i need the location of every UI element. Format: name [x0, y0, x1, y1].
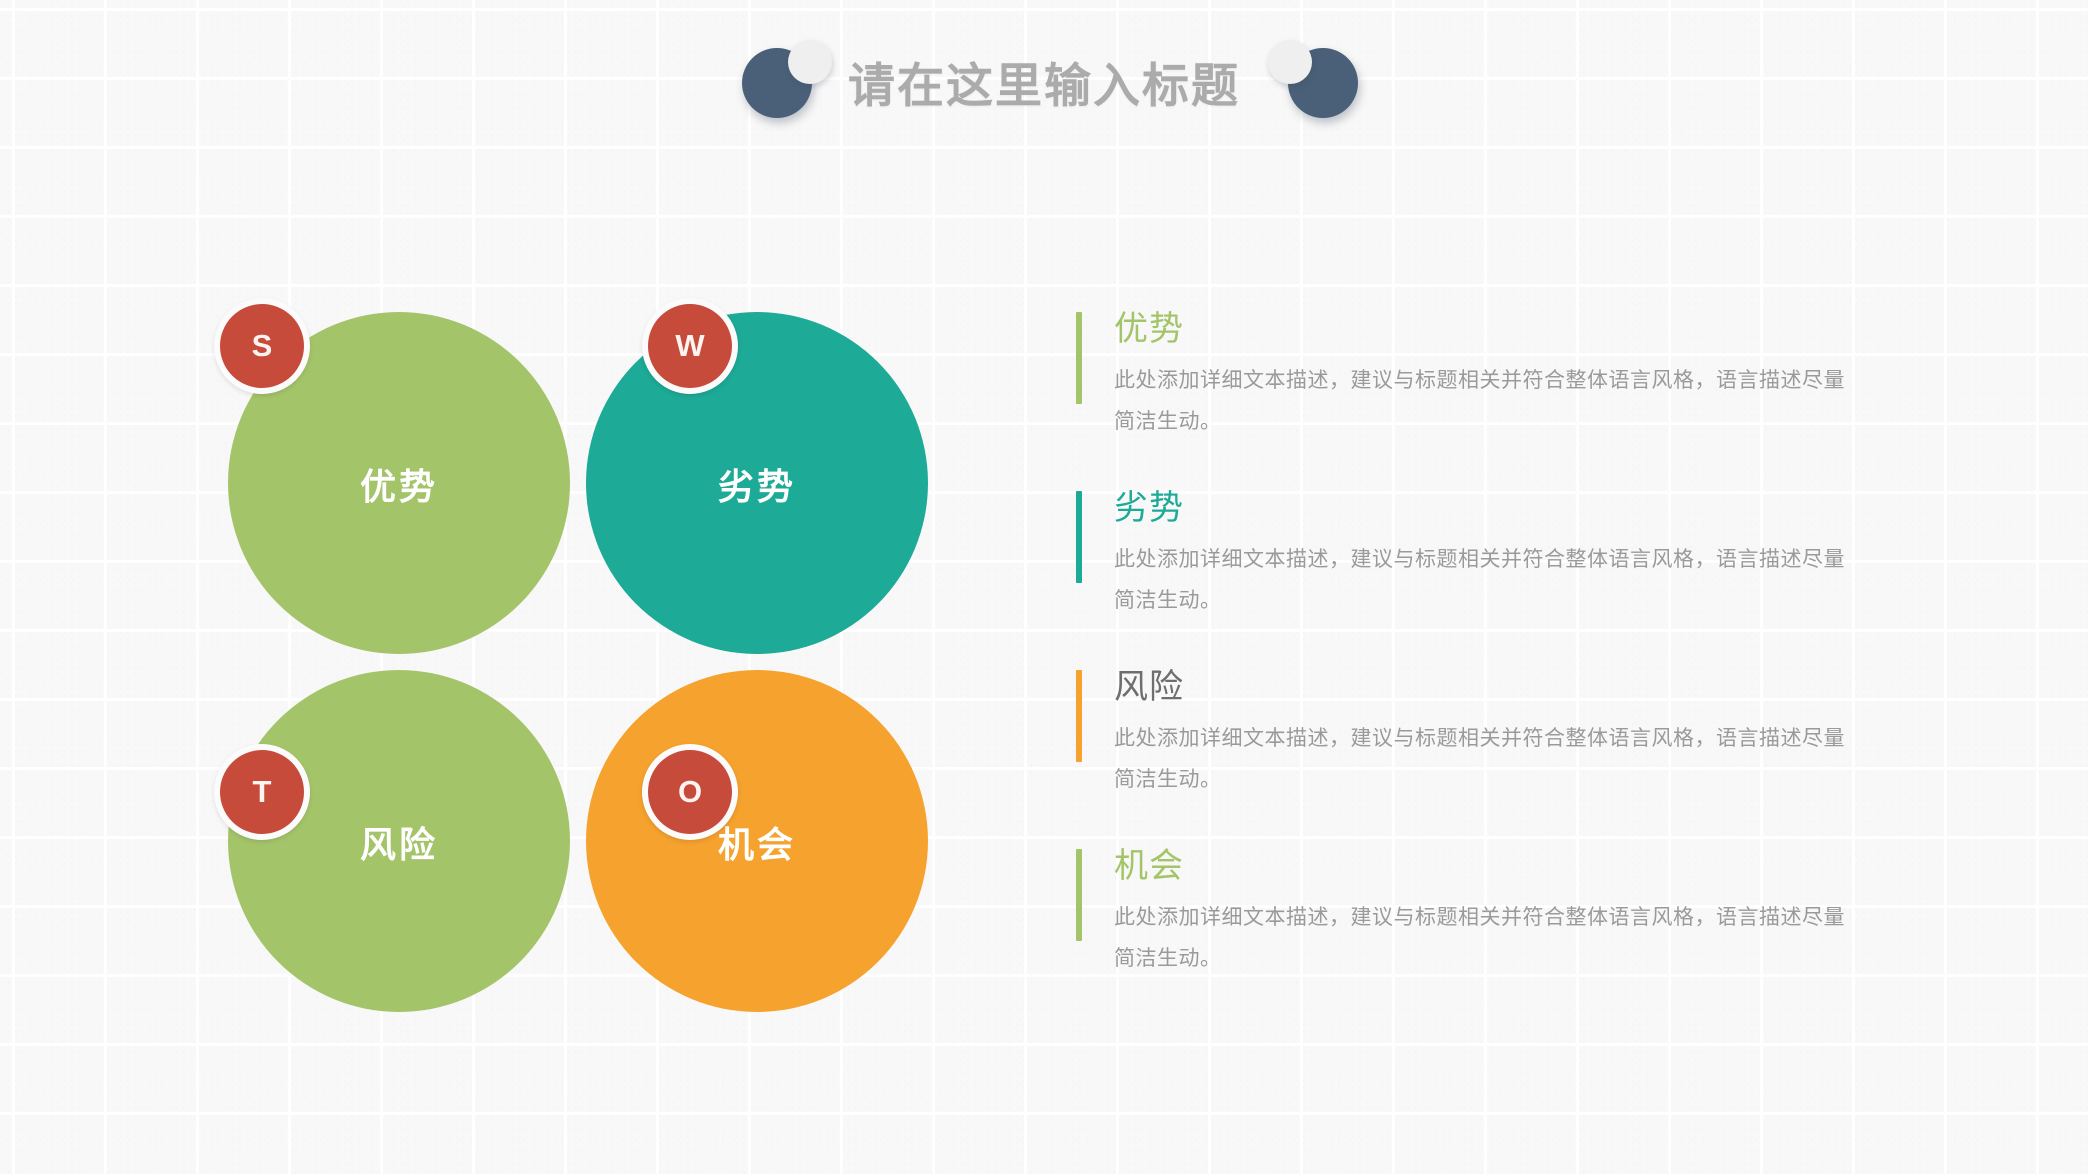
- accent-bar: [1076, 670, 1082, 762]
- swot-circle-weakness[interactable]: 劣势: [586, 312, 928, 654]
- info-body: 此处添加详细文本描述，建议与标题相关并符合整体语言风格，语言描述尽量简洁生动。: [1114, 539, 1854, 621]
- swot-badge-t[interactable]: T: [214, 744, 310, 840]
- swot-diagram: 优势 劣势 风险 机会 S W T O: [228, 312, 928, 1012]
- info-body: 此处添加详细文本描述，建议与标题相关并符合整体语言风格，语言描述尽量简洁生动。: [1114, 360, 1854, 442]
- swot-badge-letter: W: [675, 328, 704, 364]
- info-block-weakness: 劣势 此处添加详细文本描述，建议与标题相关并符合整体语言风格，语言描述尽量简洁生…: [1076, 485, 1956, 621]
- info-panel: 优势 此处添加详细文本描述，建议与标题相关并符合整体语言风格，语言描述尽量简洁生…: [1076, 306, 1956, 979]
- accent-bar: [1076, 849, 1082, 941]
- swot-badge-w[interactable]: W: [642, 298, 738, 394]
- info-body: 此处添加详细文本描述，建议与标题相关并符合整体语言风格，语言描述尽量简洁生动。: [1114, 718, 1854, 800]
- swot-badge-letter: T: [253, 774, 272, 810]
- info-heading: 机会: [1114, 843, 1956, 889]
- swot-circle-label: 劣势: [718, 458, 796, 510]
- swot-circle-label: 机会: [718, 816, 796, 868]
- swot-badge-o[interactable]: O: [642, 744, 738, 840]
- swot-badge-s[interactable]: S: [214, 298, 310, 394]
- info-block-opportunity: 机会 此处添加详细文本描述，建议与标题相关并符合整体语言风格，语言描述尽量简洁生…: [1076, 843, 1956, 979]
- info-heading: 劣势: [1114, 485, 1956, 531]
- swot-circle-label: 优势: [360, 458, 438, 510]
- accent-bar: [1076, 312, 1082, 404]
- info-block-threat: 风险 此处添加详细文本描述，建议与标题相关并符合整体语言风格，语言描述尽量简洁生…: [1076, 664, 1956, 800]
- decoration-light-circle-icon: [1268, 40, 1312, 84]
- info-heading: 优势: [1114, 306, 1956, 352]
- swot-circle-threat[interactable]: 风险: [228, 670, 570, 1012]
- info-body: 此处添加详细文本描述，建议与标题相关并符合整体语言风格，语言描述尽量简洁生动。: [1114, 897, 1854, 979]
- swot-badge-letter: O: [678, 774, 702, 810]
- title-decoration-right: [1238, 30, 1368, 140]
- swot-circle-label: 风险: [360, 816, 438, 868]
- accent-bar: [1076, 491, 1082, 583]
- info-heading: 风险: [1114, 664, 1956, 710]
- info-block-strength: 优势 此处添加详细文本描述，建议与标题相关并符合整体语言风格，语言描述尽量简洁生…: [1076, 306, 1956, 442]
- swot-circle-opportunity[interactable]: 机会: [586, 670, 928, 1012]
- slide-canvas: 请在这里输入标题 优势 劣势 风险 机会 S W T O: [0, 0, 2088, 1174]
- title-bar: 请在这里输入标题: [0, 30, 2088, 140]
- page-title: 请在这里输入标题: [0, 58, 2088, 114]
- swot-badge-letter: S: [252, 328, 273, 364]
